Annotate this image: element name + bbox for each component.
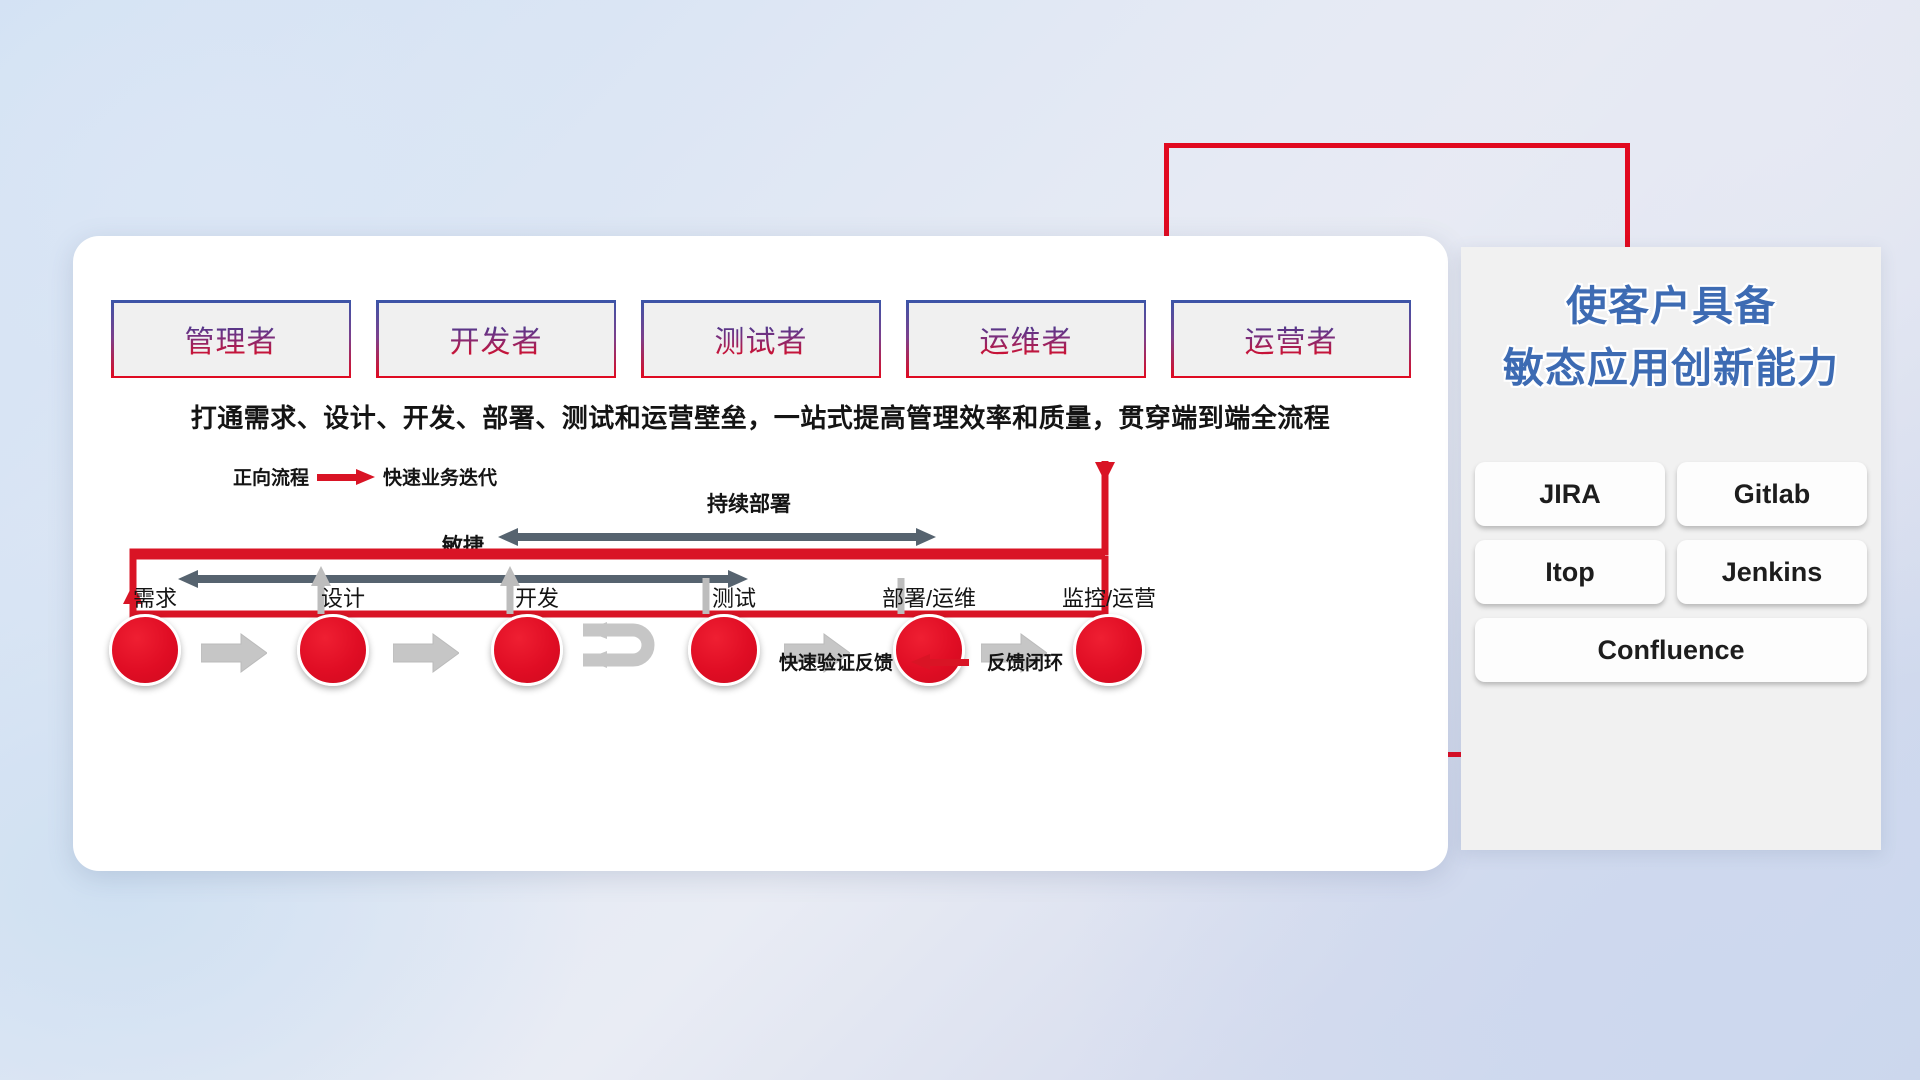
node-label-requirements: 需求 [95,581,215,613]
tool-list: JIRA Gitlab Itop Jenkins Confluence [1469,462,1873,682]
fast-validation-label: 快速验证反馈 [779,648,893,675]
tool-jenkins[interactable]: Jenkins [1677,540,1867,604]
tool-jira[interactable]: JIRA [1475,462,1665,526]
node-design[interactable] [297,614,369,686]
role-label: 测试者 [715,317,808,361]
node-label-monitor-operations: 监控/运营 [1014,581,1204,613]
continuous-deploy-arrow [498,528,936,546]
forward-flow-legend: 正向流程 快速业务迭代 [233,463,497,490]
tool-confluence[interactable]: Confluence [1475,618,1867,682]
forward-flow-label: 正向流程 [233,463,309,490]
tool-label: Confluence [1597,635,1744,666]
loopback-arrow-icon [581,622,673,680]
role-box-row: 管理者 开发者 测试者 运维者 运营者 [111,300,1411,378]
role-label: 运营者 [1245,317,1338,361]
role-box-tester[interactable]: 测试者 [641,300,881,378]
role-box-developer[interactable]: 开发者 [376,300,616,378]
panel-title: 使客户具备 敏态应用创新能力 [1461,275,1881,400]
agile-arrow [178,570,748,588]
tool-itop[interactable]: Itop [1475,540,1665,604]
role-label: 开发者 [450,317,543,361]
role-box-ops[interactable]: 运维者 [906,300,1146,378]
arrow-right-red-icon [317,469,375,485]
role-box-manager[interactable]: 管理者 [111,300,351,378]
arrow-left-red-icon [911,654,969,670]
node-requirements[interactable] [109,614,181,686]
tool-label: Jenkins [1722,557,1823,588]
agile-label: 敏捷 [393,530,533,560]
panel-title-line2: 敏态应用创新能力 [1461,337,1881,399]
fast-iteration-label: 快速业务迭代 [383,463,497,490]
node-label-development: 开发 [477,581,597,613]
node-development[interactable] [491,614,563,686]
node-testing[interactable] [688,614,760,686]
tool-gitlab[interactable]: Gitlab [1677,462,1867,526]
chevron-arrow-icon-1 [201,632,267,674]
role-label: 运维者 [980,317,1073,361]
node-label-design: 设计 [283,581,403,613]
node-label-testing: 测试 [674,581,794,613]
capability-panel: 使客户具备 敏态应用创新能力 JIRA Gitlab Itop Jenkins … [1461,247,1881,850]
panel-title-line1: 使客户具备 [1461,275,1881,337]
node-monitor-operations[interactable] [1073,614,1145,686]
feedback-loop-legend: 快速验证反馈 反馈闭环 [779,648,1063,675]
tool-label: JIRA [1539,479,1601,510]
main-content-card: 管理者 开发者 测试者 运维者 运营者 打通需求、设计、开发、部署、测试和运营壁… [73,236,1448,871]
continuous-deploy-label: 持续部署 [659,488,839,518]
description-text: 打通需求、设计、开发、部署、测试和运营壁垒，一站式提高管理效率和质量，贯穿端到端… [73,398,1448,435]
node-label-deploy-ops: 部署/运维 [839,581,1019,613]
role-label: 管理者 [185,317,278,361]
feedback-closed-loop-label: 反馈闭环 [987,648,1063,675]
chevron-arrow-icon-2 [393,632,459,674]
tool-label: Itop [1545,557,1594,588]
role-box-operations[interactable]: 运营者 [1171,300,1411,378]
tool-label: Gitlab [1734,479,1811,510]
